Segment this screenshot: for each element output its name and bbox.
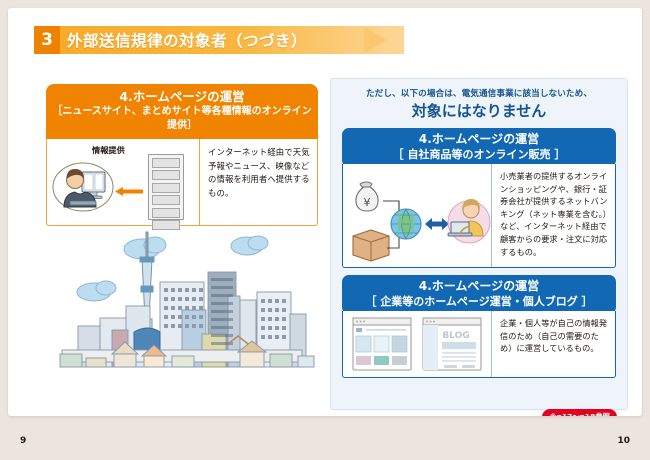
- card2-description-area: 企業・個人等が自己の情報発信のため（自己の需要のため）に運営しているもの。: [492, 311, 615, 377]
- website-mockup-icon: [353, 318, 411, 370]
- card1-heading-sub: ［ 自社商品等のオンライン販売 ］: [346, 147, 612, 162]
- page-title: 外部送信規律の対象者（つづき）: [67, 26, 307, 54]
- card1-illustration: ¥: [343, 164, 492, 267]
- money-bag-icon: ¥: [356, 182, 378, 211]
- card1-description-area: 小売業者の提供するオンラインショッピングや、銀行・証券会社が提供するネットバンキ…: [492, 164, 615, 267]
- card2-heading-main: 4.ホームページの運営: [346, 279, 612, 294]
- exclusion-card-corporate-site: 4.ホームページの運営 ［ 企業等のホームページ運営・個人ブログ ］: [342, 275, 616, 378]
- card1-body: ¥: [342, 164, 616, 268]
- blog-mockup-icon: BLOG: [423, 318, 481, 370]
- cityscape-illustration: [42, 204, 322, 389]
- card2-illustration: BLOG: [343, 311, 492, 377]
- left-panel-heading-main: 4.ホームページの運営: [52, 89, 312, 104]
- card2-heading-sub: ［ 企業等のホームページ運営・個人ブログ ］: [346, 294, 612, 309]
- bidirectional-arrow-icon: [425, 218, 449, 230]
- right-panel-lead: ただし、以下の場合は、電気通信事業に該当しないため、 対象にはなりません: [331, 79, 627, 121]
- woman-with-laptop-icon: [448, 199, 490, 243]
- card1-description: 小売業者の提供するオンラインショッピングや、銀行・証券会社が提供するネットバンキ…: [500, 170, 609, 258]
- left-panel-heading-sub: ［ニュースサイト、まとめサイト等各種情報のオンライン提供］: [52, 105, 312, 133]
- card2-description: 企業・個人等が自己の情報発信のため（自己の需要のため）に運営しているもの。: [500, 317, 609, 355]
- package-box-icon: [353, 230, 389, 261]
- left-panel-header: 4.ホームページの運営 ［ニュースサイト、まとめサイト等各種情報のオンライン提供…: [46, 84, 318, 139]
- page-reference-badge: ※p17〜p18参照: [542, 409, 617, 416]
- card1-heading-main: 4.ホームページの運営: [346, 132, 612, 147]
- page-number-right: 10: [617, 436, 630, 446]
- globe-icon: [391, 209, 421, 239]
- card2-header: 4.ホームページの運営 ［ 企業等のホームページ運営・個人ブログ ］: [342, 275, 616, 314]
- exclusion-card-online-sales: 4.ホームページの運営 ［ 自社商品等のオンライン販売 ］ ¥: [342, 128, 616, 268]
- blog-label: BLOG: [442, 331, 469, 341]
- right-panel-lead-line2: 対象にはなりません: [331, 101, 627, 121]
- information-provision-label: 情報提供: [92, 144, 125, 156]
- right-panel-lead-line1: ただし、以下の場合は、電気通信事業に該当しないため、: [331, 88, 627, 100]
- svg-text:¥: ¥: [364, 196, 371, 209]
- right-blue-panel: ただし、以下の場合は、電気通信事業に該当しないため、 対象にはなりません 4.ホ…: [330, 78, 628, 410]
- page-number-left: 9: [20, 436, 26, 446]
- slide-page: 3 外部送信規律の対象者（つづき） 4.ホームページの運営 ［ニュースサイト、ま…: [8, 8, 642, 416]
- title-arrow-shape: [364, 26, 386, 54]
- card1-header: 4.ホームページの運営 ［ 自社商品等のオンライン販売 ］: [342, 128, 616, 167]
- slide-title-bar: 3 外部送信規律の対象者（つづき）: [34, 26, 434, 54]
- left-panel-description: インターネット経由で天気予報やニュース、映像などの情報を利用者へ提供するもの。: [208, 146, 311, 200]
- data-flow-arrow-icon: [115, 181, 143, 190]
- section-number: 3: [34, 26, 60, 54]
- card2-body: BLOG 企業・個人等が自己の情報発信のため（自己の需要のため）に運営しているも…: [342, 311, 616, 378]
